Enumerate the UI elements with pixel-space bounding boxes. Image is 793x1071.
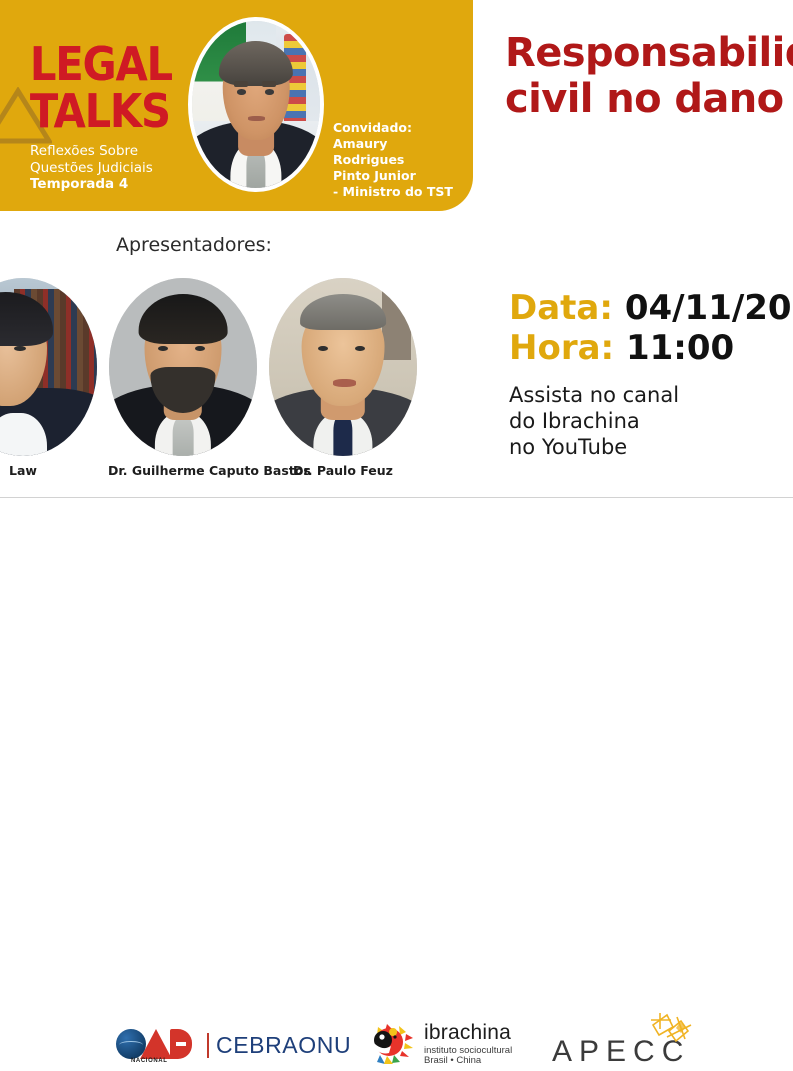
portrait-brow-right: [262, 81, 276, 87]
logo-ibrachina: ibrachina instituto sociocultural Brasil…: [369, 1022, 512, 1066]
header-banner: LEGAL TALKS Reflexões Sobre Questões Jud…: [0, 0, 473, 211]
oab-b-part: [170, 1029, 192, 1059]
event-date-label: Data:: [509, 288, 613, 328]
brand-subtitle-line-2: Questões Judiciais: [30, 160, 208, 176]
page-title-line-2: civil no dano m: [505, 76, 793, 122]
presenter-photo-1: [0, 278, 97, 456]
list-item: Dr. Paulo Feuz: [268, 278, 418, 478]
presenter-name-3: Dr. Paulo Feuz: [268, 463, 418, 478]
guest-name-line-2: Pinto Junior: [333, 168, 463, 184]
ibrachina-text: ibrachina instituto sociocultural Brasil…: [424, 1022, 512, 1066]
presenters-list: Law Dr. Guilherme Caputo Bastos: [0, 278, 448, 488]
event-date-value: 04/11/2021: [625, 288, 793, 328]
brand-subtitle-line-1: Reflexões Sobre: [30, 143, 208, 159]
presenter-name-2: Dr. Guilherme Caputo Bastos: [108, 463, 258, 478]
brand-line-talks: TALKS: [30, 89, 208, 134]
photo-tie: [173, 417, 194, 456]
guest-info: Convidado: Amaury Rodrigues Pinto Junior…: [333, 120, 463, 200]
ibrachina-tagline-2: Brasil • China: [424, 1056, 512, 1066]
photo-eye-right: [195, 346, 205, 351]
list-item: Dr. Guilherme Caputo Bastos: [108, 278, 258, 478]
page-title: Responsabilidade civil no dano m: [505, 30, 793, 123]
list-item: Law: [0, 278, 98, 478]
presenters-label: Apresentadores:: [116, 234, 272, 256]
oab-nacional-label: NACIONAL: [131, 1058, 167, 1064]
photo-eye-right: [355, 346, 365, 351]
guest-name-line-1: Amaury Rodrigues: [333, 136, 463, 168]
watch-line-3: no YouTube: [509, 434, 793, 460]
oab-divider: [207, 1033, 209, 1058]
brand-line-legal: LEGAL: [30, 42, 208, 87]
logo-apecc: APECC: [552, 1011, 712, 1071]
guest-label-text: Convidado:: [333, 120, 463, 136]
event-date-row: Data: 04/11/2021: [509, 288, 793, 328]
event-time-value: 11:00: [626, 328, 734, 368]
photo-tie: [333, 415, 352, 456]
oab-globe-triangle-icon: NACIONAL: [116, 1026, 200, 1064]
logo-oab-cebraonu: NACIONAL CEBRAONU: [116, 1026, 351, 1064]
portrait-eye-left: [237, 89, 246, 94]
photo-eye-right: [14, 346, 26, 351]
cebraonu-wordmark: CEBRAONU: [216, 1032, 351, 1059]
ibrachina-wordmark: ibrachina: [424, 1022, 512, 1044]
photo-mouth: [333, 379, 357, 386]
portrait-brow-left: [234, 81, 248, 87]
photo-door: [382, 278, 412, 360]
photo-eye-left: [158, 346, 168, 351]
oab-triangle-part: [140, 1029, 172, 1059]
brand-subtitle-line-3: Temporada 4: [30, 176, 208, 192]
page-title-line-1: Responsabilidade: [505, 30, 793, 76]
event-time-row: Hora: 11:00: [509, 328, 793, 368]
apecc-abstract-icon: [647, 1011, 697, 1051]
event-info: Data: 04/11/2021 Hora: 11:00 Assista no …: [509, 288, 793, 460]
presenter-photo-2: [109, 278, 257, 456]
portrait-mouth: [248, 116, 265, 120]
guest-portrait: [188, 17, 324, 192]
photo-eye-left: [318, 346, 328, 351]
portrait-eye-right: [265, 89, 274, 94]
guest-role: - Ministro do TST: [333, 184, 463, 200]
footer: NACIONAL CEBRAONU: [0, 498, 793, 594]
watch-line-1: Assista no canal: [509, 382, 793, 408]
presenter-name-1: Law: [0, 463, 98, 478]
brand-subtitle: Reflexões Sobre Questões Judiciais Tempo…: [30, 143, 208, 192]
event-time-label: Hora:: [509, 328, 614, 368]
brand-block: LEGAL TALKS Reflexões Sobre Questões Jud…: [30, 42, 208, 193]
presenter-photo-3: [269, 278, 417, 456]
ibrachina-parrot-icon: [369, 1022, 415, 1066]
watch-instructions: Assista no canal do Ibrachina no YouTube: [509, 382, 793, 460]
ibrachina-tagline-1: instituto sociocultural: [424, 1046, 512, 1056]
watch-line-2: do Ibrachina: [509, 408, 793, 434]
